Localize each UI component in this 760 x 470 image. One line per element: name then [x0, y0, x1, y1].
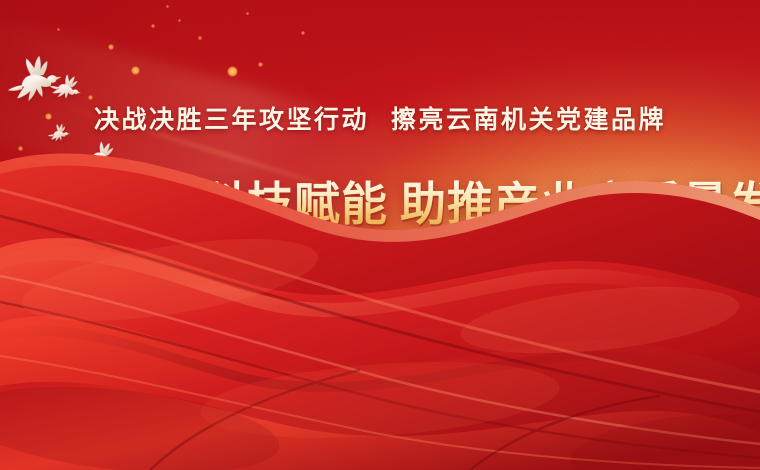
poster-banner: 决战决胜三年攻坚行动擦亮云南机关党建品牌 党建领航科技赋能助推产业高质量发展 〈…	[0, 0, 760, 470]
red-silk-ribbon	[0, 70, 760, 470]
